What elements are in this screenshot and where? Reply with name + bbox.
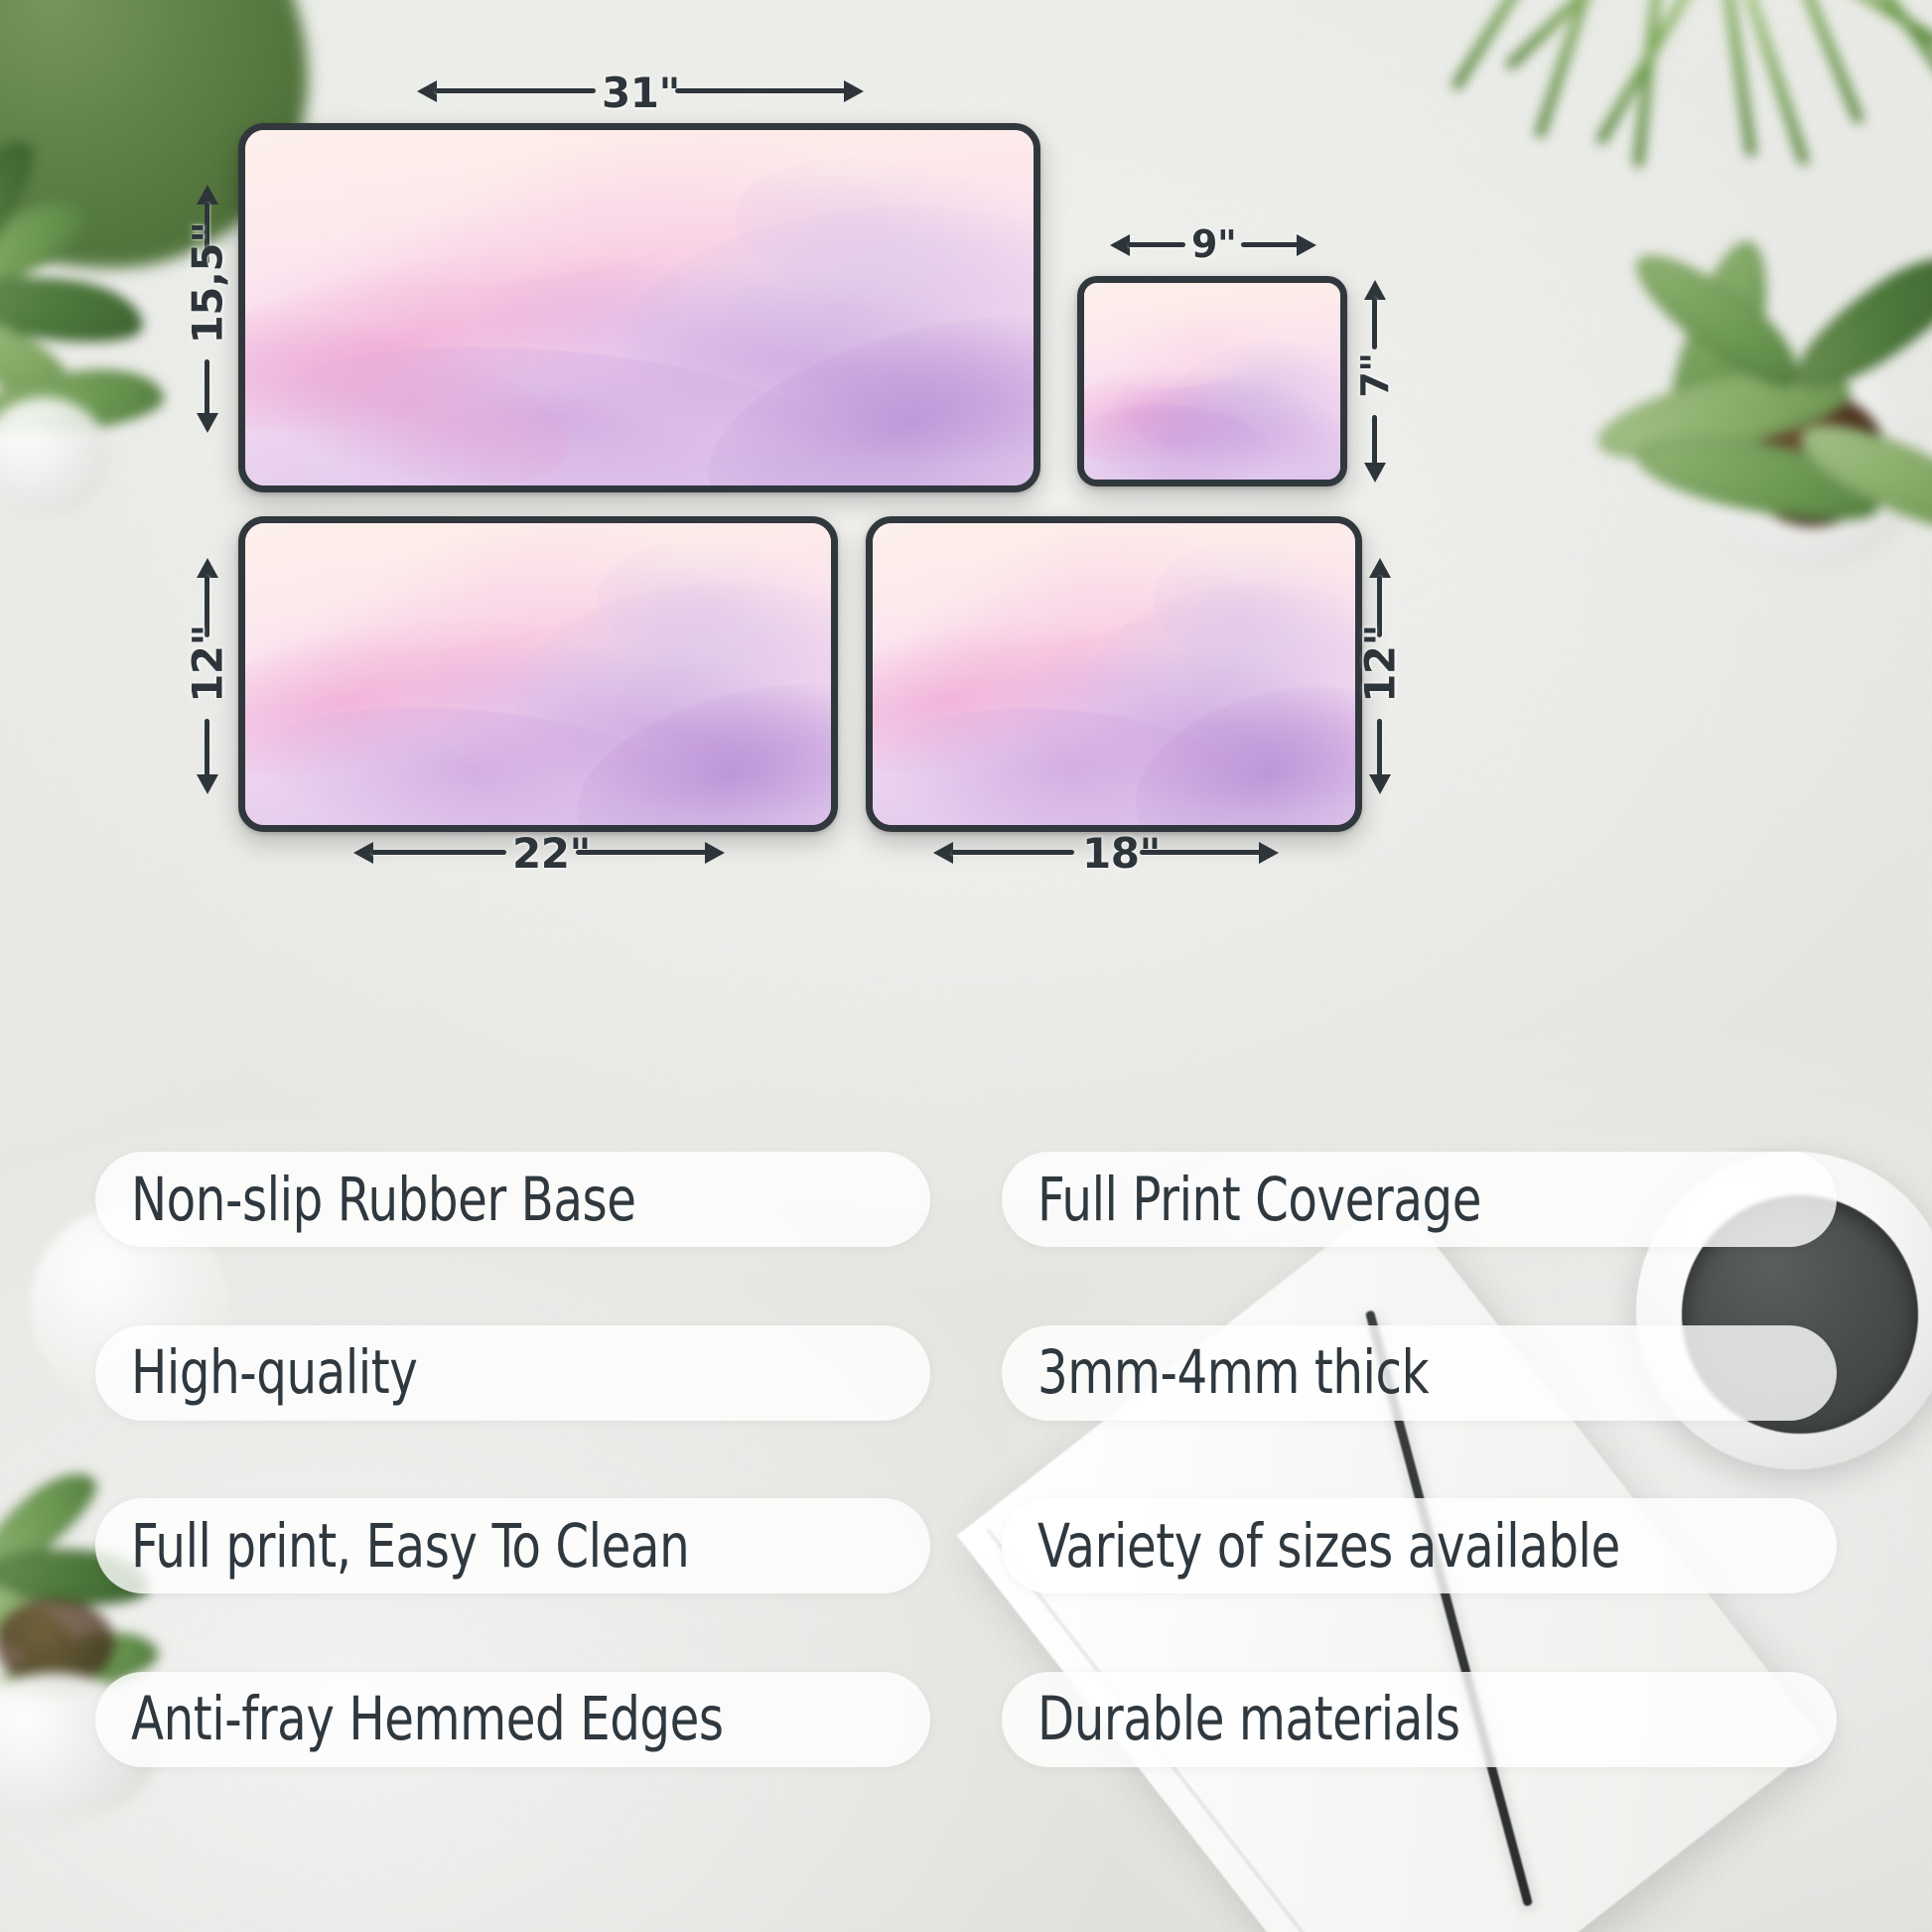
arrow-right-icon: [1259, 842, 1279, 864]
feature-column-right: Full Print Coverage 3mm-4mm thick Variet…: [1002, 1152, 1837, 1767]
feature-label: Full Print Coverage: [1037, 1170, 1481, 1230]
dimension-lg-height-label: 12": [1356, 622, 1405, 706]
arrow-right-icon: [1297, 234, 1316, 256]
feature-pill-variety-of-sizes: Variety of sizes available: [1002, 1498, 1837, 1593]
aloe-plant-decoration: [1565, 228, 1932, 655]
feature-label: High-quality: [131, 1342, 417, 1403]
feature-pill-full-print-easy-to-clean: Full print, Easy To Clean: [95, 1498, 930, 1593]
dimension-sm-width-label: 9": [1191, 222, 1236, 266]
feature-pill-anti-fray-hemmed-edges: Anti-fray Hemmed Edges: [95, 1672, 930, 1767]
arrow-right-icon: [844, 80, 864, 102]
arrow-down-icon: [197, 774, 218, 794]
mousepad-preview-xl[interactable]: [238, 123, 1040, 492]
feature-label: Anti-fray Hemmed Edges: [131, 1689, 724, 1749]
arrow-left-icon: [353, 842, 373, 864]
feature-label: 3mm-4mm thick: [1037, 1342, 1429, 1403]
arrow-up-icon: [1364, 280, 1386, 300]
dimension-xl-width: 31": [417, 75, 864, 107]
mousepad-artwork: [245, 523, 831, 825]
arrow-left-icon: [417, 80, 437, 102]
arrow-down-icon: [1364, 463, 1386, 483]
arrow-right-icon: [705, 842, 725, 864]
dimension-md-width: 22": [353, 838, 725, 868]
mousepad-artwork: [1084, 283, 1340, 480]
feature-label: Durable materials: [1037, 1689, 1460, 1749]
feature-pill-durable-materials: Durable materials: [1002, 1672, 1837, 1767]
dimension-md-height-label: 12": [184, 622, 232, 706]
dimension-sm-height: 7": [1360, 280, 1390, 483]
feature-label: Variety of sizes available: [1037, 1516, 1620, 1577]
arrow-up-icon: [1369, 558, 1391, 578]
feature-list: Non-slip Rubber Base High-quality Full p…: [0, 1152, 1932, 1767]
mousepad-artwork: [245, 130, 1034, 485]
dimension-sm-height-label: 7": [1353, 339, 1397, 412]
arrow-up-icon: [197, 558, 218, 578]
dimension-xl-height-label: 15,5": [184, 241, 232, 345]
arrow-left-icon: [1110, 234, 1130, 256]
arrow-down-icon: [1369, 774, 1391, 794]
feature-pill-full-print-coverage: Full Print Coverage: [1002, 1152, 1837, 1247]
feature-pill-high-quality: High-quality: [95, 1325, 930, 1421]
dimension-lg-height: 12": [1364, 558, 1396, 794]
arrow-up-icon: [197, 185, 218, 205]
arrow-left-icon: [933, 842, 953, 864]
mousepad-preview-sm[interactable]: [1077, 276, 1347, 486]
dimension-xl-width-label: 31": [602, 69, 680, 117]
feature-label: Non-slip Rubber Base: [131, 1170, 636, 1230]
arrow-down-icon: [197, 413, 218, 433]
dimension-sm-width: 9": [1110, 230, 1316, 260]
feature-pill-non-slip-rubber-base: Non-slip Rubber Base: [95, 1152, 930, 1247]
dimension-lg-width: 18": [933, 838, 1279, 868]
feature-label: Full print, Easy To Clean: [131, 1516, 689, 1577]
feature-column-left: Non-slip Rubber Base High-quality Full p…: [95, 1152, 930, 1767]
dimension-xl-height: 15,5": [192, 185, 223, 433]
feature-pill-thickness: 3mm-4mm thick: [1002, 1325, 1837, 1421]
mousepad-artwork: [873, 523, 1355, 825]
dimension-md-height: 12": [192, 558, 223, 794]
mousepad-preview-lg[interactable]: [866, 516, 1362, 832]
mousepad-preview-md[interactable]: [238, 516, 838, 832]
